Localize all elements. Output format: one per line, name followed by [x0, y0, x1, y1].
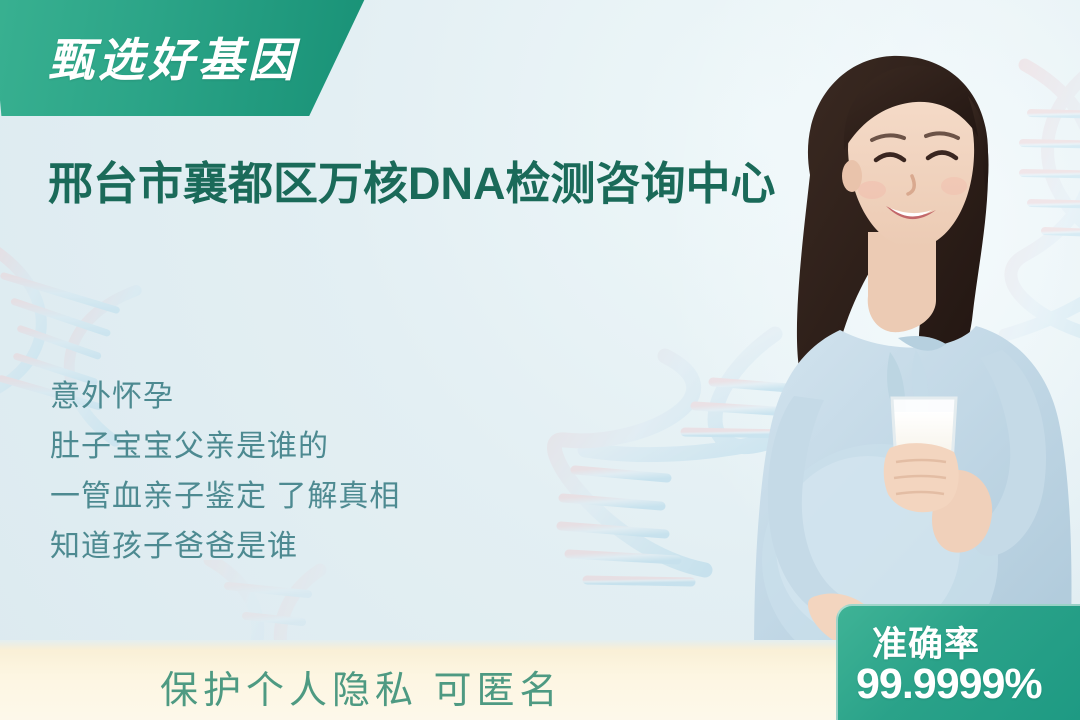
list-item: 一管血亲子鉴定 了解真相 [50, 472, 610, 522]
brand-logo-text: 甄选好基因 [48, 24, 298, 90]
accuracy-badge: 准确率 99.9999% [836, 604, 1080, 720]
accuracy-badge-value: 99.9999% [856, 660, 1042, 709]
pregnant-woman-photo [740, 0, 1080, 660]
list-item: 意外怀孕 [50, 372, 610, 422]
list-item: 肚子宝宝父亲是谁的 [50, 422, 610, 472]
list-item: 知道孩子爸爸是谁 [50, 522, 610, 572]
promo-banner: 甄选好基因 邢台市襄都区万核DNA检测咨询中心 意外怀孕 肚子宝宝父亲是谁的 一… [0, 0, 1080, 720]
selling-points-list: 意外怀孕 肚子宝宝父亲是谁的 一管血亲子鉴定 了解真相 知道孩子爸爸是谁 [50, 372, 610, 572]
page-title: 邢台市襄都区万核DNA检测咨询中心 [48, 154, 838, 213]
privacy-tagline: 保护个人隐私 可匿名 [160, 659, 563, 714]
